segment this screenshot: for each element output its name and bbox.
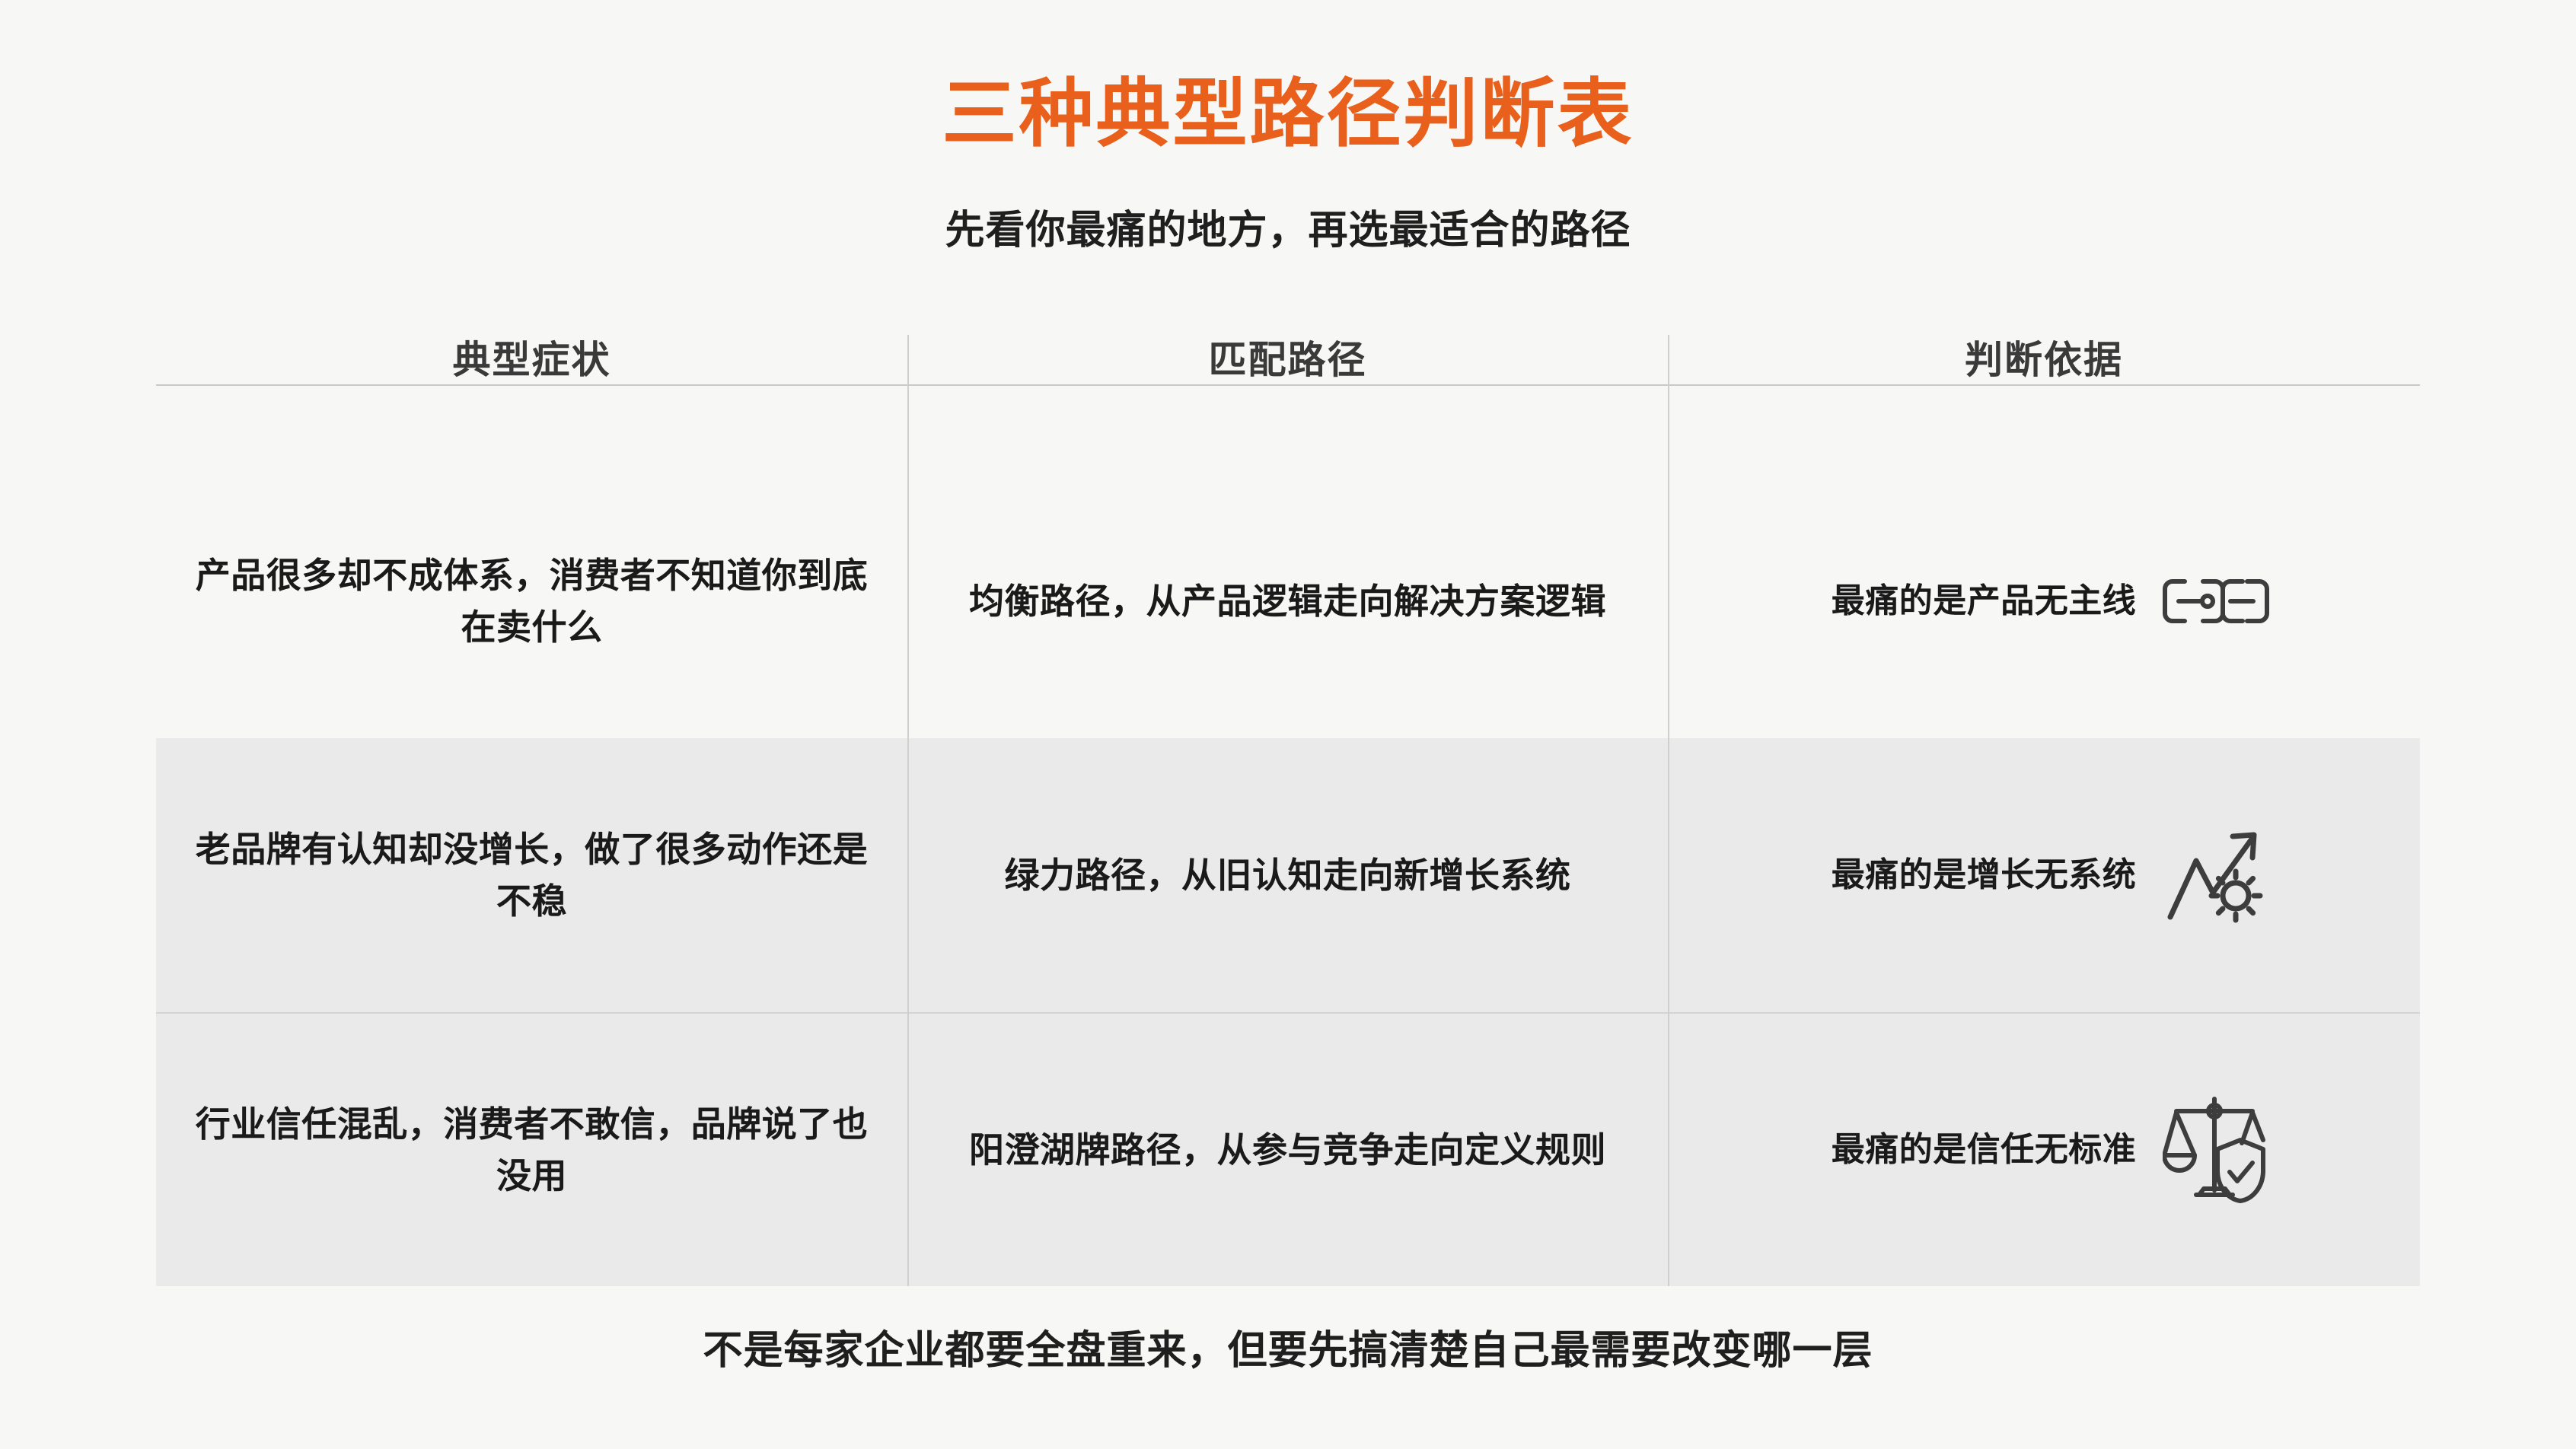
cell-symptom: 产品很多却不成体系，消费者不知道你到底在卖什么 [156,464,907,738]
column-header-basis: 判断依据 [1668,329,2420,384]
scales-shield-check-icon [2159,1093,2273,1207]
column-header-path: 匹配路径 [907,329,1668,384]
path-text: 绿力路径，从旧认知走向新增长系统 [1005,849,1571,901]
basis-text: 最痛的是信任无标准 [1832,1128,2137,1171]
cell-basis: 最痛的是信任无标准 [1668,1014,2420,1286]
cell-basis: 最痛的是增长无系统 [1668,738,2420,1012]
column-header-symptom: 典型症状 [156,329,907,384]
page-title: 三种典型路径判断表 [0,73,2576,155]
basis-text: 最痛的是产品无主线 [1832,579,2137,623]
slide-root: 三种典型路径判断表 先看你最痛的地方，再选最适合的路径 典型症状 匹配路径 判断… [0,0,2576,1449]
chain-link-icon [2159,544,2273,658]
growth-arrow-gear-icon [2159,818,2273,932]
cell-path: 绿力路径，从旧认知走向新增长系统 [907,738,1668,1012]
table-row: 产品很多却不成体系，消费者不知道你到底在卖什么 均衡路径，从产品逻辑走向解决方案… [156,464,2420,738]
header-divider [156,384,2420,386]
table-row: 老品牌有认知却没增长，做了很多动作还是不稳 绿力路径，从旧认知走向新增长系统 最… [156,738,2420,1012]
basis-text: 最痛的是增长无系统 [1832,853,2137,896]
comparison-table: 典型症状 匹配路径 判断依据 产品很多却不成体系，消费者不知道你到底在卖什么 均… [156,329,2420,1286]
symptom-text: 行业信任混乱，消费者不敢信，品牌说了也没用 [182,1098,882,1202]
path-text: 均衡路径，从产品逻辑走向解决方案逻辑 [969,575,1606,627]
footer-note: 不是每家企业都要全盘重来，但要先搞清楚自己最需要改变哪一层 [0,1327,2576,1374]
cell-basis: 最痛的是产品无主线 [1668,464,2420,738]
symptom-text: 老品牌有认知却没增长，做了很多动作还是不稳 [182,823,882,927]
table-row: 行业信任混乱，消费者不敢信，品牌说了也没用 阳澄湖牌路径，从参与竞争走向定义规则… [156,1014,2420,1286]
cell-path: 阳澄湖牌路径，从参与竞争走向定义规则 [907,1014,1668,1286]
table-header-row: 典型症状 匹配路径 判断依据 [156,329,2420,384]
cell-symptom: 老品牌有认知却没增长，做了很多动作还是不稳 [156,738,907,1012]
cell-path: 均衡路径，从产品逻辑走向解决方案逻辑 [907,464,1668,738]
cell-symptom: 行业信任混乱，消费者不敢信，品牌说了也没用 [156,1014,907,1286]
page-subtitle: 先看你最痛的地方，再选最适合的路径 [0,207,2576,254]
symptom-text: 产品很多却不成体系，消费者不知道你到底在卖什么 [182,549,882,653]
path-text: 阳澄湖牌路径，从参与竞争走向定义规则 [969,1124,1606,1176]
